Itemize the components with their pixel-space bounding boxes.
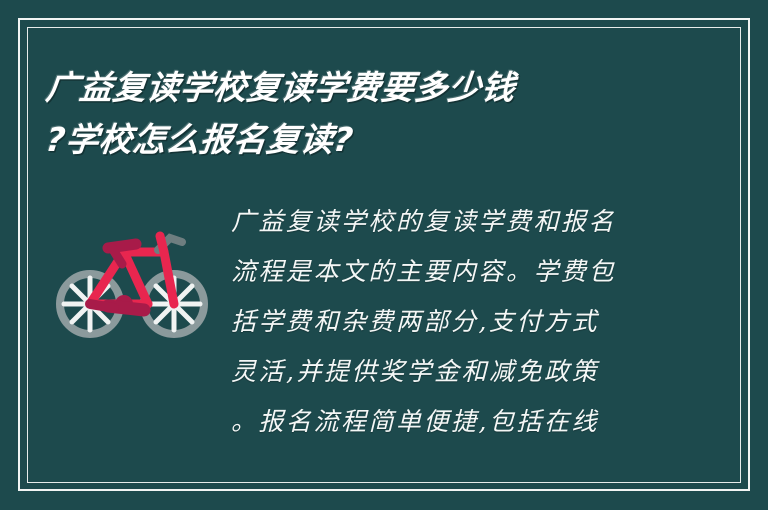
page-title: 广益复读学校复读学费要多少钱 ?学校怎么报名复读?	[46, 62, 726, 166]
bicycle-icon	[52, 212, 212, 348]
body-line-5: 。报名流程简单便捷,包括在线	[231, 397, 651, 447]
body-line-3: 括学费和杂费两部分,支付方式	[231, 297, 651, 347]
body-paragraph: 广益复读学校的复读学费和报名 流程是本文的主要内容。学费包 括学费和杂费两部分,…	[231, 197, 651, 447]
poster-canvas: 广益复读学校复读学费要多少钱 ?学校怎么报名复读?	[0, 0, 768, 510]
body-line-1: 广益复读学校的复读学费和报名	[231, 197, 651, 247]
title-line-1: 广益复读学校复读学费要多少钱	[43, 62, 728, 114]
title-line-2: ?学校怎么报名复读?	[43, 114, 728, 166]
body-line-2: 流程是本文的主要内容。学费包	[231, 247, 651, 297]
bicycle-illustration	[52, 212, 212, 348]
body-line-4: 灵活,并提供奖学金和减免政策	[231, 347, 651, 397]
